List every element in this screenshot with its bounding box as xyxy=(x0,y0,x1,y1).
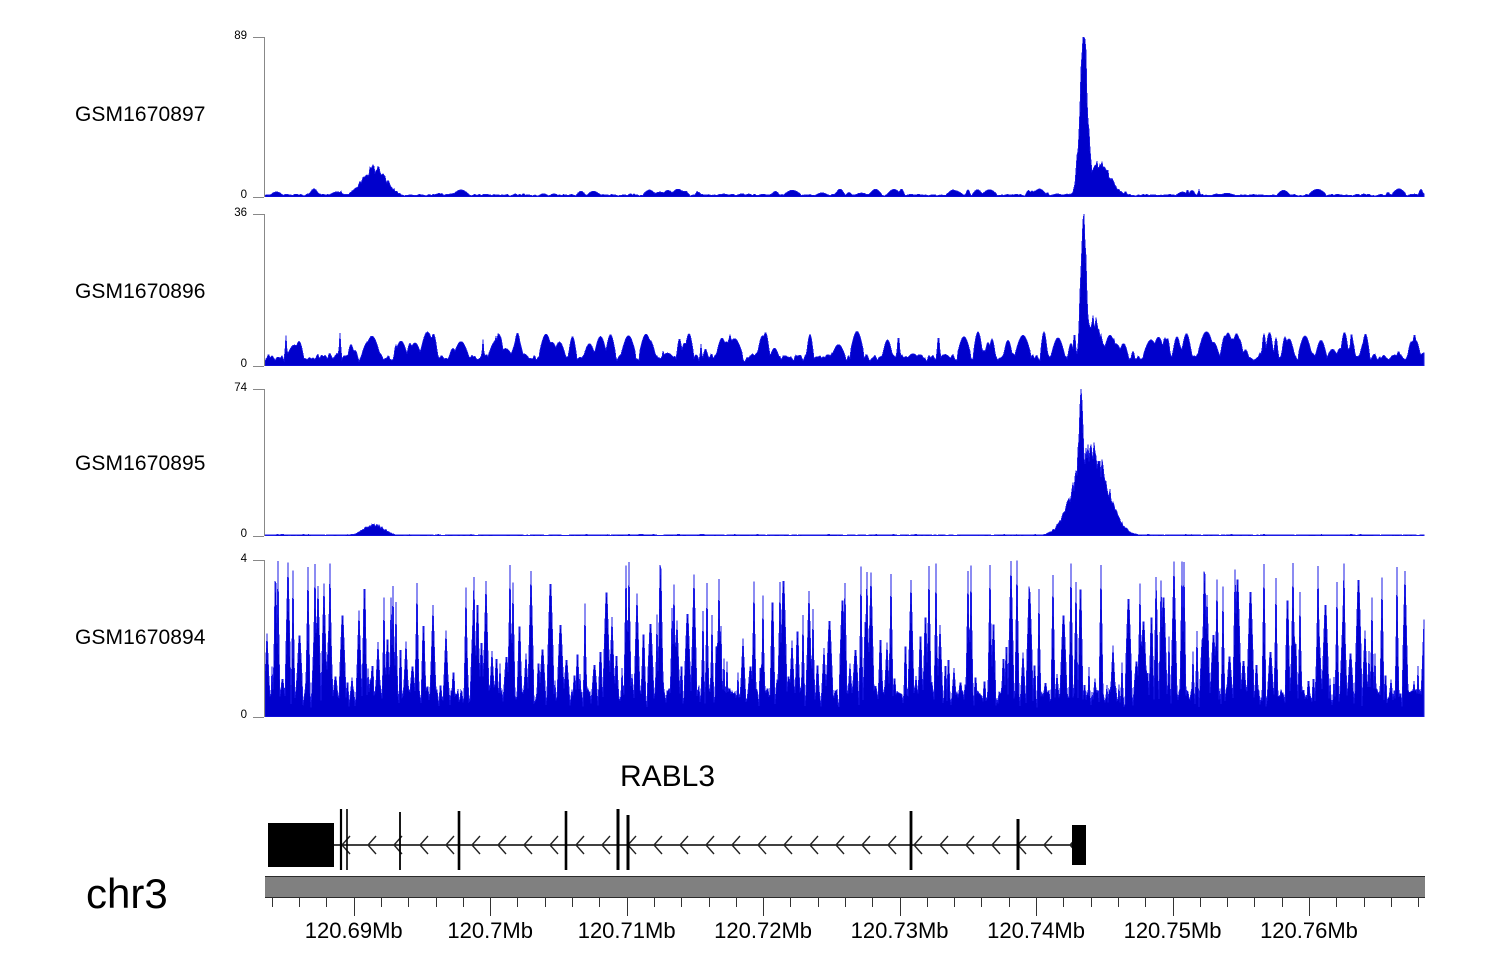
ruler-minor-tick xyxy=(1063,897,1064,907)
ruler-minor-tick xyxy=(954,897,955,907)
ruler-minor-tick xyxy=(463,897,464,907)
ruler-major-tick xyxy=(1036,897,1037,916)
ruler-minor-tick xyxy=(599,897,600,907)
ruler-tick-label: 120.74Mb xyxy=(987,918,1085,944)
ruler-minor-tick xyxy=(1118,897,1119,907)
ruler-minor-tick xyxy=(790,897,791,907)
ruler-major-tick xyxy=(900,897,901,916)
ruler-minor-tick xyxy=(1200,897,1201,907)
ruler-minor-tick xyxy=(845,897,846,907)
ruler-major-tick xyxy=(627,897,628,916)
ruler-minor-tick xyxy=(681,897,682,907)
ruler-tick-label: 120.69Mb xyxy=(305,918,403,944)
ruler-minor-tick xyxy=(272,897,273,907)
ruler-minor-tick xyxy=(517,897,518,907)
ruler-minor-tick xyxy=(736,897,737,907)
y-axis-max-label: 36 xyxy=(207,207,247,219)
y-axis-max-tick xyxy=(253,389,264,390)
ruler-minor-tick xyxy=(818,897,819,907)
ruler-tick-label: 120.71Mb xyxy=(578,918,676,944)
y-axis-max-label: 74 xyxy=(207,382,247,394)
ruler-tick-label: 120.7Mb xyxy=(447,918,533,944)
signal-plot-gsm1670895[interactable] xyxy=(265,389,1425,536)
signal-plot-gsm1670896[interactable] xyxy=(265,214,1425,366)
ruler-minor-tick xyxy=(927,897,928,907)
ruler-minor-tick xyxy=(381,897,382,907)
ruler-minor-tick xyxy=(436,897,437,907)
y-axis-min-label: 0 xyxy=(207,709,247,721)
track-label-gsm1670895: GSM1670895 xyxy=(75,452,206,476)
ruler-minor-tick xyxy=(572,897,573,907)
genome-browser: GSM1670897890GSM1670896360GSM1670895740G… xyxy=(0,0,1500,980)
ruler-minor-tick xyxy=(654,897,655,907)
ruler-tick-label: 120.75Mb xyxy=(1124,918,1222,944)
y-axis-min-label: 0 xyxy=(207,189,247,201)
ruler-minor-tick xyxy=(1227,897,1228,907)
y-axis-min-label: 0 xyxy=(207,528,247,540)
ruler-minor-tick xyxy=(1282,897,1283,907)
track-label-gsm1670897: GSM1670897 xyxy=(75,103,206,127)
ruler-minor-tick xyxy=(545,897,546,907)
ruler-minor-tick xyxy=(326,897,327,907)
signal-plot-gsm1670897[interactable] xyxy=(265,37,1425,197)
ruler-minor-tick xyxy=(981,897,982,907)
ruler-major-tick xyxy=(763,897,764,916)
ruler-minor-tick xyxy=(1364,897,1365,907)
y-axis-max-label: 89 xyxy=(207,30,247,42)
ruler-major-tick xyxy=(1309,897,1310,916)
y-axis-max-label: 4 xyxy=(207,553,247,565)
gene-name-label: RABL3 xyxy=(0,760,1500,794)
gene-annotation-track[interactable]: RABL3 xyxy=(0,760,1500,870)
y-axis-min-label: 0 xyxy=(207,358,247,370)
genomic-coordinate-ruler[interactable]: 120.69Mb120.7Mb120.71Mb120.72Mb120.73Mb1… xyxy=(0,876,1500,980)
ruler-tick-label: 120.76Mb xyxy=(1260,918,1358,944)
y-axis-max-tick xyxy=(253,214,264,215)
ruler-minor-tick xyxy=(1009,897,1010,907)
track-label-gsm1670896: GSM1670896 xyxy=(75,280,206,304)
ruler-major-tick xyxy=(1173,897,1174,916)
signal-plot-gsm1670894[interactable] xyxy=(265,560,1425,717)
ruler-minor-tick xyxy=(1391,897,1392,907)
ruler-minor-tick xyxy=(299,897,300,907)
y-axis-min-tick xyxy=(253,717,264,718)
y-axis-min-tick xyxy=(253,197,264,198)
ruler-minor-tick xyxy=(1418,897,1419,907)
ruler-minor-tick xyxy=(1145,897,1146,907)
ruler-minor-tick xyxy=(1336,897,1337,907)
y-axis-min-tick xyxy=(253,536,264,537)
ruler-tick-label: 120.72Mb xyxy=(714,918,812,944)
ruler-bar[interactable] xyxy=(265,876,1425,898)
ruler-minor-tick xyxy=(1254,897,1255,907)
ruler-minor-tick xyxy=(709,897,710,907)
ruler-major-tick xyxy=(354,897,355,916)
ruler-major-tick xyxy=(490,897,491,916)
ruler-tick-label: 120.73Mb xyxy=(851,918,949,944)
track-label-gsm1670894: GSM1670894 xyxy=(75,626,206,650)
y-axis-max-tick xyxy=(253,37,264,38)
ruler-minor-tick xyxy=(408,897,409,907)
y-axis-max-tick xyxy=(253,560,264,561)
ruler-minor-tick xyxy=(1091,897,1092,907)
ruler-minor-tick xyxy=(872,897,873,907)
y-axis-min-tick xyxy=(253,366,264,367)
